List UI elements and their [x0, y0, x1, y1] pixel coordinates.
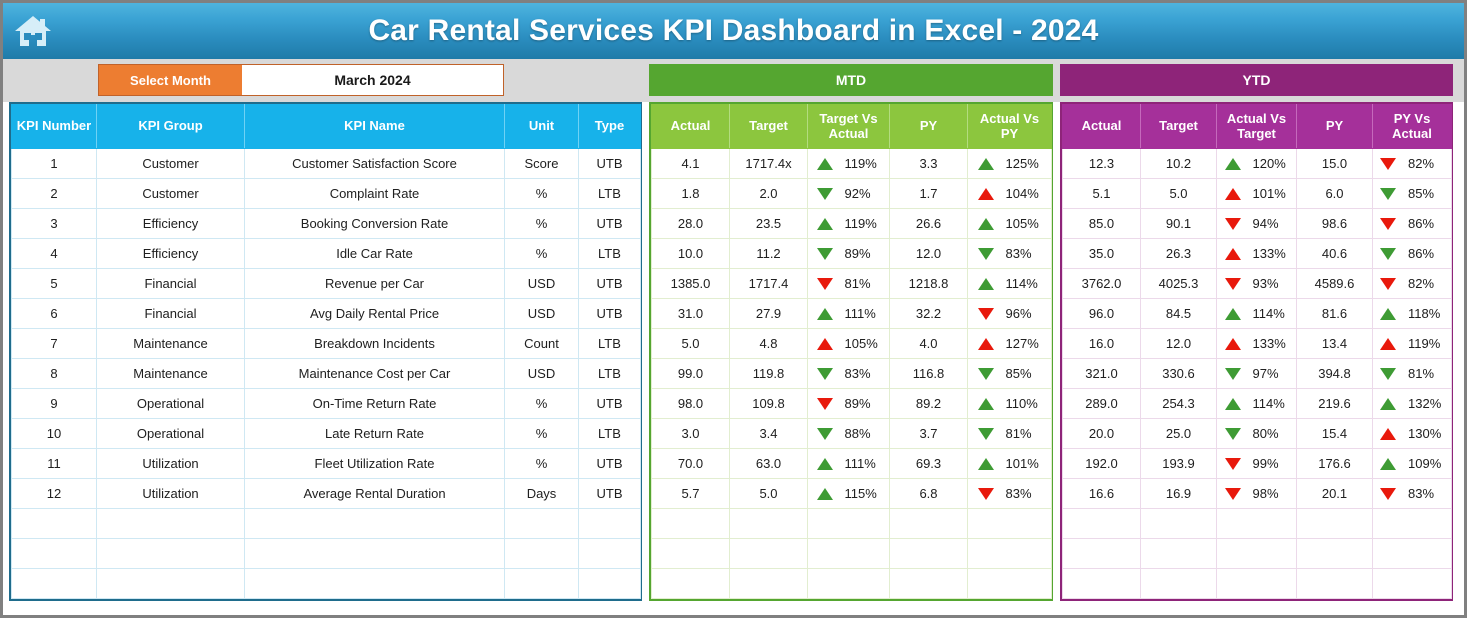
cell-unit: USD	[505, 299, 579, 329]
table-row: 31.027.9111%32.296%	[652, 299, 1052, 329]
arrow-up-icon	[1380, 308, 1396, 320]
mtd-table: Actual Target Target Vs Actual PY Actual…	[651, 104, 1052, 599]
table-row: 1.82.092%1.7104%	[652, 179, 1052, 209]
cell-mtd-target-vs-actual: 89%	[808, 389, 890, 419]
percent-value: 94%	[1253, 216, 1289, 231]
arrow-up-icon	[978, 278, 994, 290]
percent-value: 88%	[845, 426, 881, 441]
cell-ytd-py: 394.8	[1297, 359, 1373, 389]
percent-value: 83%	[1006, 486, 1042, 501]
ytd-empty-cell	[1373, 539, 1452, 569]
table-row: 5.15.0101%6.085%	[1063, 179, 1452, 209]
cell-ytd-actual-vs-target: 97%	[1217, 359, 1297, 389]
arrow-up-icon	[817, 218, 833, 230]
mtd-empty-cell	[968, 569, 1052, 599]
percent-value: 110%	[1006, 396, 1042, 411]
table-row: 3.03.488%3.781%	[652, 419, 1052, 449]
cell-ytd-actual: 96.0	[1063, 299, 1141, 329]
arrow-down-icon	[1225, 278, 1241, 290]
cell-mtd-target-vs-actual: 119%	[808, 209, 890, 239]
percent-value: 132%	[1408, 396, 1444, 411]
table-row: 96.084.5114%81.6118%	[1063, 299, 1452, 329]
arrow-down-icon	[1380, 248, 1396, 260]
arrow-down-icon	[817, 278, 833, 290]
cell-mtd-target-vs-actual: 92%	[808, 179, 890, 209]
cell-ytd-py: 6.0	[1297, 179, 1373, 209]
cell-type: UTB	[579, 269, 641, 299]
table-row: 1CustomerCustomer Satisfaction ScoreScor…	[12, 149, 641, 179]
arrow-up-icon	[1380, 458, 1396, 470]
cell-ytd-py: 219.6	[1297, 389, 1373, 419]
cell-unit: USD	[505, 269, 579, 299]
col-kpi-number[interactable]: KPI Number	[12, 105, 97, 149]
cell-mtd-actual-vs-py: 114%	[968, 269, 1052, 299]
kpi-definition-table: KPI Number KPI Group KPI Name Unit Type …	[11, 104, 641, 599]
table-row: 321.0330.697%394.881%	[1063, 359, 1452, 389]
kpi-empty-cell	[97, 569, 245, 599]
cell-mtd-actual: 1.8	[652, 179, 730, 209]
table-row: 28.023.5119%26.6105%	[652, 209, 1052, 239]
cell-mtd-py: 3.3	[890, 149, 968, 179]
cell-unit: %	[505, 389, 579, 419]
percent-value: 83%	[845, 366, 881, 381]
percent-value: 115%	[845, 486, 881, 501]
col-unit[interactable]: Unit	[505, 105, 579, 149]
cell-ytd-actual: 85.0	[1063, 209, 1141, 239]
cell-ytd-target: 330.6	[1141, 359, 1217, 389]
cell-ytd-actual: 321.0	[1063, 359, 1141, 389]
col-ytd-actual-vs-target[interactable]: Actual Vs Target	[1217, 105, 1297, 149]
cell-mtd-actual: 1385.0	[652, 269, 730, 299]
ytd-empty-cell	[1217, 569, 1297, 599]
cell-mtd-actual: 70.0	[652, 449, 730, 479]
cell-type: UTB	[579, 209, 641, 239]
cell-mtd-target-vs-actual: 81%	[808, 269, 890, 299]
cell-mtd-target-vs-actual: 83%	[808, 359, 890, 389]
col-ytd-py[interactable]: PY	[1297, 105, 1373, 149]
cell-type: UTB	[579, 449, 641, 479]
table-row: 192.0193.999%176.6109%	[1063, 449, 1452, 479]
cell-kpi-group: Operational	[97, 389, 245, 419]
cell-type: LTB	[579, 239, 641, 269]
percent-value: 98%	[1253, 486, 1289, 501]
cell-mtd-target: 3.4	[730, 419, 808, 449]
cell-ytd-py-vs-actual: 119%	[1373, 329, 1452, 359]
table-row: 20.025.080%15.4130%	[1063, 419, 1452, 449]
arrow-up-icon	[817, 458, 833, 470]
ytd-table-wrap: Actual Target Actual Vs Target PY PY Vs …	[1060, 102, 1453, 601]
cell-mtd-py: 4.0	[890, 329, 968, 359]
percent-value: 81%	[1006, 426, 1042, 441]
cell-unit: %	[505, 209, 579, 239]
arrow-up-icon	[817, 308, 833, 320]
kpi-definition-table-wrap: KPI Number KPI Group KPI Name Unit Type …	[9, 102, 642, 601]
cell-mtd-py: 3.7	[890, 419, 968, 449]
cell-mtd-actual: 99.0	[652, 359, 730, 389]
ytd-empty-cell	[1297, 509, 1373, 539]
cell-mtd-py: 1.7	[890, 179, 968, 209]
percent-value: 119%	[845, 156, 881, 171]
cell-ytd-actual: 3762.0	[1063, 269, 1141, 299]
percent-value: 119%	[845, 216, 881, 231]
kpi-empty-cell	[97, 509, 245, 539]
cell-type: UTB	[579, 149, 641, 179]
cell-mtd-actual: 31.0	[652, 299, 730, 329]
col-ytd-actual[interactable]: Actual	[1063, 105, 1141, 149]
cell-ytd-actual-vs-target: 93%	[1217, 269, 1297, 299]
select-month-control[interactable]: Select Month March 2024	[98, 64, 504, 96]
mtd-empty-cell	[968, 539, 1052, 569]
mtd-empty-cell	[890, 569, 968, 599]
percent-value: 105%	[1006, 216, 1042, 231]
arrow-down-icon	[1380, 278, 1396, 290]
col-mtd-target-vs-actual[interactable]: Target Vs Actual	[808, 105, 890, 149]
percent-value: 111%	[845, 306, 881, 321]
percent-value: 86%	[1408, 216, 1444, 231]
cell-mtd-actual: 28.0	[652, 209, 730, 239]
cell-mtd-actual-vs-py: 110%	[968, 389, 1052, 419]
cell-mtd-py: 6.8	[890, 479, 968, 509]
percent-value: 111%	[845, 456, 881, 471]
arrow-down-icon	[1380, 218, 1396, 230]
mtd-empty-cell	[890, 509, 968, 539]
home-icon	[13, 13, 53, 49]
mtd-empty-cell	[808, 509, 890, 539]
cell-type: UTB	[579, 389, 641, 419]
table-row: 85.090.194%98.686%	[1063, 209, 1452, 239]
ytd-empty-cell	[1063, 539, 1141, 569]
cell-kpi-number: 8	[12, 359, 97, 389]
cell-mtd-target: 119.8	[730, 359, 808, 389]
control-band-row: Select Month March 2024 MTD YTD	[3, 59, 1464, 102]
arrow-down-icon	[1380, 368, 1396, 380]
cell-mtd-actual-vs-py: 127%	[968, 329, 1052, 359]
percent-value: 127%	[1006, 336, 1042, 351]
percent-value: 82%	[1408, 276, 1444, 291]
cell-mtd-target: 11.2	[730, 239, 808, 269]
cell-unit: Count	[505, 329, 579, 359]
cell-kpi-name: Breakdown Incidents	[245, 329, 505, 359]
percent-value: 83%	[1408, 486, 1444, 501]
col-mtd-py[interactable]: PY	[890, 105, 968, 149]
table-row: 5.04.8105%4.0127%	[652, 329, 1052, 359]
cell-mtd-actual-vs-py: 83%	[968, 239, 1052, 269]
kpi-empty-cell	[12, 539, 97, 569]
cell-ytd-py-vs-actual: 85%	[1373, 179, 1452, 209]
arrow-down-icon	[1380, 158, 1396, 170]
arrow-up-icon	[978, 338, 994, 350]
percent-value: 86%	[1408, 246, 1444, 261]
arrow-down-icon	[817, 368, 833, 380]
cell-kpi-name: Average Rental Duration	[245, 479, 505, 509]
arrow-down-icon	[978, 428, 994, 440]
cell-mtd-target-vs-actual: 119%	[808, 149, 890, 179]
table-row-empty	[1063, 539, 1452, 569]
select-month-label[interactable]: Select Month	[99, 65, 242, 95]
arrow-up-icon	[1380, 398, 1396, 410]
mtd-empty-cell	[652, 509, 730, 539]
percent-value: 82%	[1408, 156, 1444, 171]
cell-ytd-py: 13.4	[1297, 329, 1373, 359]
cell-kpi-name: Customer Satisfaction Score	[245, 149, 505, 179]
cell-ytd-actual: 20.0	[1063, 419, 1141, 449]
cell-mtd-target: 27.9	[730, 299, 808, 329]
cell-ytd-py-vs-actual: 130%	[1373, 419, 1452, 449]
col-mtd-target[interactable]: Target	[730, 105, 808, 149]
col-ytd-py-vs-actual[interactable]: PY Vs Actual	[1373, 105, 1452, 149]
cell-ytd-actual: 192.0	[1063, 449, 1141, 479]
cell-unit: USD	[505, 359, 579, 389]
table-header-row: KPI Number KPI Group KPI Name Unit Type	[12, 105, 641, 149]
mtd-band: MTD	[649, 64, 1053, 96]
col-mtd-actual[interactable]: Actual	[652, 105, 730, 149]
mtd-body: 4.11717.4x119%3.3125%1.82.092%1.7104%28.…	[652, 149, 1052, 599]
arrow-down-icon	[1380, 488, 1396, 500]
cell-type: UTB	[579, 299, 641, 329]
table-row-empty	[12, 569, 641, 599]
percent-value: 89%	[845, 246, 881, 261]
cell-mtd-actual: 3.0	[652, 419, 730, 449]
percent-value: 120%	[1253, 156, 1289, 171]
col-mtd-actual-vs-py[interactable]: Actual Vs PY	[968, 105, 1052, 149]
table-row: 4.11717.4x119%3.3125%	[652, 149, 1052, 179]
cell-ytd-py-vs-actual: 118%	[1373, 299, 1452, 329]
cell-kpi-group: Financial	[97, 269, 245, 299]
cell-mtd-target-vs-actual: 111%	[808, 299, 890, 329]
cell-mtd-target-vs-actual: 89%	[808, 239, 890, 269]
cell-ytd-actual-vs-target: 114%	[1217, 389, 1297, 419]
cell-kpi-group: Efficiency	[97, 239, 245, 269]
cell-kpi-name: Avg Daily Rental Price	[245, 299, 505, 329]
cell-mtd-target-vs-actual: 105%	[808, 329, 890, 359]
cell-kpi-number: 9	[12, 389, 97, 419]
cell-ytd-actual-vs-target: 133%	[1217, 239, 1297, 269]
table-row: 11UtilizationFleet Utilization Rate%UTB	[12, 449, 641, 479]
arrow-down-icon	[1380, 188, 1396, 200]
cell-ytd-target: 4025.3	[1141, 269, 1217, 299]
arrow-down-icon	[978, 308, 994, 320]
mtd-empty-cell	[890, 539, 968, 569]
cell-ytd-py: 40.6	[1297, 239, 1373, 269]
cell-kpi-number: 4	[12, 239, 97, 269]
ytd-table: Actual Target Actual Vs Target PY PY Vs …	[1062, 104, 1452, 599]
arrow-down-icon	[1225, 458, 1241, 470]
ytd-band: YTD	[1060, 64, 1453, 96]
arrow-down-icon	[978, 488, 994, 500]
cell-mtd-actual-vs-py: 101%	[968, 449, 1052, 479]
table-row: 99.0119.883%116.885%	[652, 359, 1052, 389]
cell-mtd-py: 1218.8	[890, 269, 968, 299]
cell-kpi-group: Financial	[97, 299, 245, 329]
col-kpi-group[interactable]: KPI Group	[97, 105, 245, 149]
cell-type: LTB	[579, 329, 641, 359]
arrow-down-icon	[1225, 488, 1241, 500]
percent-value: 104%	[1006, 186, 1042, 201]
percent-value: 92%	[845, 186, 881, 201]
cell-kpi-number: 1	[12, 149, 97, 179]
percent-value: 83%	[1006, 246, 1042, 261]
table-row: 10.011.289%12.083%	[652, 239, 1052, 269]
cell-kpi-name: Revenue per Car	[245, 269, 505, 299]
cell-mtd-target: 1717.4	[730, 269, 808, 299]
percent-value: 133%	[1253, 246, 1289, 261]
cell-ytd-target: 26.3	[1141, 239, 1217, 269]
col-kpi-name[interactable]: KPI Name	[245, 105, 505, 149]
percent-value: 93%	[1253, 276, 1289, 291]
arrow-down-icon	[817, 428, 833, 440]
cell-kpi-name: On-Time Return Rate	[245, 389, 505, 419]
percent-value: 119%	[1408, 336, 1444, 351]
arrow-down-icon	[978, 368, 994, 380]
ytd-empty-cell	[1141, 569, 1217, 599]
ytd-empty-cell	[1141, 539, 1217, 569]
page-title: Car Rental Services KPI Dashboard in Exc…	[3, 14, 1464, 48]
select-month-value[interactable]: March 2024	[242, 65, 503, 95]
cell-ytd-target: 25.0	[1141, 419, 1217, 449]
cell-mtd-py: 26.6	[890, 209, 968, 239]
cell-ytd-actual: 5.1	[1063, 179, 1141, 209]
kpi-empty-cell	[505, 539, 579, 569]
kpi-empty-cell	[505, 569, 579, 599]
percent-value: 133%	[1253, 336, 1289, 351]
mtd-empty-cell	[652, 569, 730, 599]
arrow-down-icon	[1225, 368, 1241, 380]
cell-mtd-py: 12.0	[890, 239, 968, 269]
cell-unit: Days	[505, 479, 579, 509]
cell-ytd-py-vs-actual: 82%	[1373, 269, 1452, 299]
cell-ytd-actual: 16.0	[1063, 329, 1141, 359]
home-button[interactable]	[7, 5, 59, 57]
percent-value: 99%	[1253, 456, 1289, 471]
ytd-empty-cell	[1217, 539, 1297, 569]
cell-kpi-group: Maintenance	[97, 359, 245, 389]
cell-ytd-py-vs-actual: 132%	[1373, 389, 1452, 419]
percent-value: 125%	[1006, 156, 1042, 171]
percent-value: 85%	[1006, 366, 1042, 381]
arrow-down-icon	[817, 188, 833, 200]
cell-ytd-py-vs-actual: 86%	[1373, 239, 1452, 269]
cell-ytd-target: 254.3	[1141, 389, 1217, 419]
percent-value: 101%	[1253, 186, 1289, 201]
table-row: 12UtilizationAverage Rental DurationDays…	[12, 479, 641, 509]
arrow-up-icon	[978, 218, 994, 230]
cell-mtd-actual-vs-py: 81%	[968, 419, 1052, 449]
cell-unit: %	[505, 179, 579, 209]
table-row: 289.0254.3114%219.6132%	[1063, 389, 1452, 419]
cell-ytd-target: 10.2	[1141, 149, 1217, 179]
cell-ytd-actual-vs-target: 94%	[1217, 209, 1297, 239]
arrow-up-icon	[1225, 188, 1241, 200]
cell-ytd-py: 176.6	[1297, 449, 1373, 479]
cell-mtd-actual: 4.1	[652, 149, 730, 179]
cell-unit: %	[505, 239, 579, 269]
cell-kpi-name: Complaint Rate	[245, 179, 505, 209]
cell-ytd-py-vs-actual: 109%	[1373, 449, 1452, 479]
ytd-empty-cell	[1297, 569, 1373, 599]
kpi-empty-cell	[505, 509, 579, 539]
percent-value: 81%	[845, 276, 881, 291]
mtd-empty-cell	[968, 509, 1052, 539]
dashboard-root: Car Rental Services KPI Dashboard in Exc…	[0, 0, 1467, 618]
arrow-up-icon	[978, 158, 994, 170]
cell-ytd-actual: 35.0	[1063, 239, 1141, 269]
mtd-table-wrap: Actual Target Target Vs Actual PY Actual…	[649, 102, 1053, 601]
cell-ytd-target: 12.0	[1141, 329, 1217, 359]
cell-kpi-number: 6	[12, 299, 97, 329]
cell-kpi-group: Efficiency	[97, 209, 245, 239]
table-row: 3EfficiencyBooking Conversion Rate%UTB	[12, 209, 641, 239]
cell-mtd-target: 63.0	[730, 449, 808, 479]
ytd-body: 12.310.2120%15.082%5.15.0101%6.085%85.09…	[1063, 149, 1452, 599]
arrow-down-icon	[1225, 428, 1241, 440]
percent-value: 101%	[1006, 456, 1042, 471]
ytd-empty-cell	[1373, 509, 1452, 539]
cell-ytd-py: 15.0	[1297, 149, 1373, 179]
cell-mtd-actual-vs-py: 96%	[968, 299, 1052, 329]
cell-mtd-actual-vs-py: 83%	[968, 479, 1052, 509]
table-row: 70.063.0111%69.3101%	[652, 449, 1052, 479]
cell-ytd-target: 5.0	[1141, 179, 1217, 209]
mtd-empty-cell	[730, 539, 808, 569]
cell-ytd-py-vs-actual: 83%	[1373, 479, 1452, 509]
cell-ytd-actual: 12.3	[1063, 149, 1141, 179]
ytd-empty-cell	[1373, 569, 1452, 599]
cell-mtd-actual-vs-py: 125%	[968, 149, 1052, 179]
cell-ytd-target: 84.5	[1141, 299, 1217, 329]
cell-kpi-name: Late Return Rate	[245, 419, 505, 449]
cell-kpi-name: Booking Conversion Rate	[245, 209, 505, 239]
title-bar: Car Rental Services KPI Dashboard in Exc…	[3, 3, 1464, 59]
arrow-down-icon	[817, 398, 833, 410]
table-row: 35.026.3133%40.686%	[1063, 239, 1452, 269]
cell-kpi-group: Customer	[97, 149, 245, 179]
table-row-empty	[12, 509, 641, 539]
col-type[interactable]: Type	[579, 105, 641, 149]
cell-ytd-actual-vs-target: 120%	[1217, 149, 1297, 179]
cell-unit: %	[505, 449, 579, 479]
table-row: 3762.04025.393%4589.682%	[1063, 269, 1452, 299]
cell-kpi-group: Utilization	[97, 449, 245, 479]
cell-kpi-name: Idle Car Rate	[245, 239, 505, 269]
cell-mtd-target: 4.8	[730, 329, 808, 359]
percent-value: 97%	[1253, 366, 1289, 381]
table-row: 16.012.0133%13.4119%	[1063, 329, 1452, 359]
table-row: 5.75.0115%6.883%	[652, 479, 1052, 509]
arrow-up-icon	[978, 398, 994, 410]
cell-kpi-group: Utilization	[97, 479, 245, 509]
cell-mtd-actual-vs-py: 105%	[968, 209, 1052, 239]
percent-value: 96%	[1006, 306, 1042, 321]
arrow-up-icon	[817, 488, 833, 500]
ytd-empty-cell	[1141, 509, 1217, 539]
ytd-empty-cell	[1297, 539, 1373, 569]
table-row: 5FinancialRevenue per CarUSDUTB	[12, 269, 641, 299]
cell-mtd-target: 109.8	[730, 389, 808, 419]
table-header-row: Actual Target Target Vs Actual PY Actual…	[652, 105, 1052, 149]
cell-ytd-py: 4589.6	[1297, 269, 1373, 299]
arrow-up-icon	[1225, 338, 1241, 350]
cell-mtd-target: 5.0	[730, 479, 808, 509]
cell-mtd-py: 116.8	[890, 359, 968, 389]
cell-ytd-target: 193.9	[1141, 449, 1217, 479]
table-row: 12.310.2120%15.082%	[1063, 149, 1452, 179]
percent-value: 114%	[1253, 396, 1289, 411]
ytd-empty-cell	[1063, 569, 1141, 599]
mtd-empty-cell	[652, 539, 730, 569]
col-ytd-target[interactable]: Target	[1141, 105, 1217, 149]
cell-ytd-py-vs-actual: 81%	[1373, 359, 1452, 389]
cell-mtd-py: 69.3	[890, 449, 968, 479]
